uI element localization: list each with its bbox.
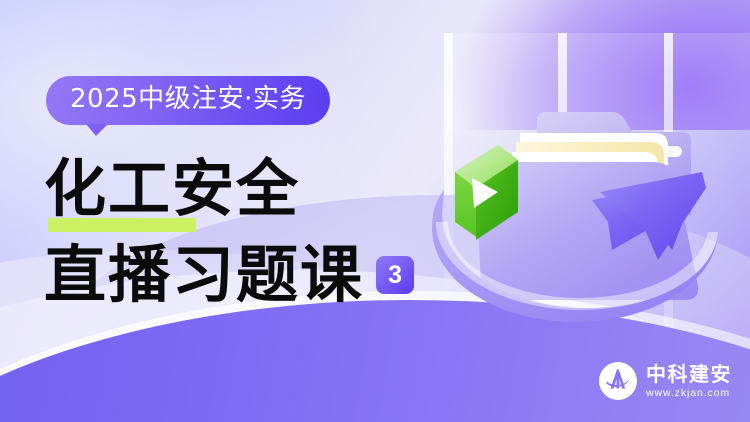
course-promo-banner: 2025中级注安·实务 化工安全 直播习题课 3 中科建安 www.zkj bbox=[0, 0, 750, 422]
course-illustration bbox=[400, 0, 750, 350]
play-cube-icon bbox=[455, 145, 518, 240]
headline-block: 化工安全 直播习题课 3 bbox=[44, 152, 414, 312]
background-bottom-sweep bbox=[0, 300, 750, 422]
course-category-badge-label: 2025中级注安·实务 bbox=[70, 84, 306, 114]
background-panel-1 bbox=[453, 33, 558, 422]
documents bbox=[512, 133, 668, 300]
background-top-right-glow bbox=[460, 0, 750, 130]
badge-tail bbox=[86, 124, 108, 136]
brand-logo-icon bbox=[599, 362, 637, 400]
brand-logo[interactable]: 中科建安 www.zkjan.com bbox=[599, 362, 732, 400]
folder-back bbox=[537, 112, 691, 215]
background-bar-2 bbox=[558, 33, 567, 422]
brand-logo-text: 中科建安 www.zkjan.com bbox=[646, 364, 732, 399]
circular-arrow bbox=[432, 172, 718, 322]
headline-line-1: 化工安全 bbox=[44, 152, 414, 226]
episode-number-badge: 3 bbox=[376, 256, 414, 294]
brand-url: www.zkjan.com bbox=[646, 388, 732, 399]
headline-line-1-text: 化工安全 bbox=[44, 152, 300, 225]
background-bar-1 bbox=[444, 33, 453, 422]
headline-line-2: 直播习题课 3 bbox=[44, 238, 414, 312]
headline-line-2-text: 直播习题课 bbox=[44, 238, 364, 312]
folder-front bbox=[476, 162, 698, 300]
brand-name: 中科建安 bbox=[646, 364, 732, 384]
course-category-badge-wrap: 2025中级注安·实务 bbox=[46, 76, 330, 125]
course-category-badge: 2025中级注安·实务 bbox=[46, 76, 330, 125]
